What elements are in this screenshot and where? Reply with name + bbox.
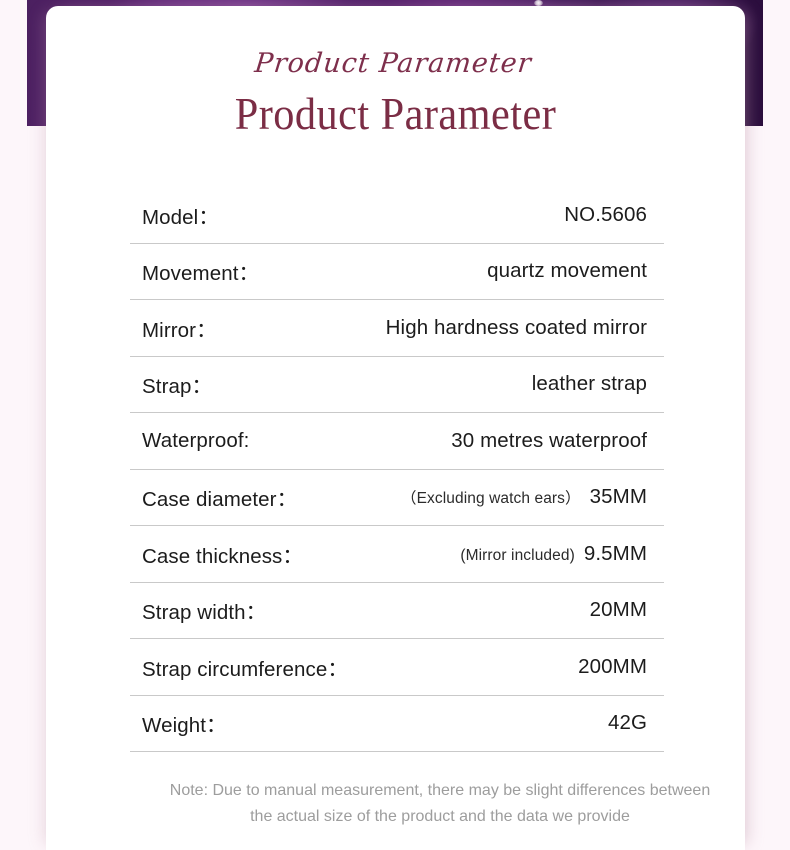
table-row: Movement： quartz movement xyxy=(130,244,664,301)
row-label: Strap width： xyxy=(130,595,266,625)
row-value: 42G xyxy=(608,711,647,735)
row-label: Strap circumference： xyxy=(130,652,348,682)
row-value: quartz movement xyxy=(487,259,647,283)
row-label: Case thickness： xyxy=(130,539,303,569)
row-value: 35MM xyxy=(590,485,647,509)
row-right: (Mirror included) 9.5MM xyxy=(460,542,664,566)
table-row: Mirror： High hardness coated mirror xyxy=(130,300,664,357)
row-value: NO.5606 xyxy=(564,203,647,227)
script-title: Product Parameter xyxy=(46,6,745,77)
table-row: Case diameter： （Excluding watch ears） 35… xyxy=(130,470,664,527)
row-right: （Excluding watch ears） 35MM xyxy=(401,485,664,509)
row-value: 30 metres waterproof xyxy=(451,429,647,453)
row-value: 200MM xyxy=(578,655,647,679)
row-label: Weight： xyxy=(130,708,227,738)
row-label: Case diameter： xyxy=(130,482,297,512)
table-row: Case thickness： (Mirror included) 9.5MM xyxy=(130,526,664,583)
product-parameter-card: Product Parameter Product Parameter Mode… xyxy=(46,6,745,850)
table-row: Model： NO.5606 xyxy=(130,187,664,244)
row-label: Mirror： xyxy=(130,313,217,343)
row-label: Model： xyxy=(130,200,219,230)
row-value: 9.5MM xyxy=(584,542,647,566)
page-title: Product Parameter xyxy=(74,77,717,137)
row-right: 42G xyxy=(608,711,664,735)
row-label: Strap： xyxy=(130,369,212,399)
table-row: Weight： 42G xyxy=(130,696,664,753)
row-right: 20MM xyxy=(590,598,664,622)
table-row: Strap： leather strap xyxy=(130,357,664,414)
row-right: quartz movement xyxy=(487,259,664,283)
row-value: leather strap xyxy=(532,372,647,396)
table-row: Strap circumference： 200MM xyxy=(130,639,664,696)
disclaimer-line-2: the actual size of the product and the d… xyxy=(130,804,745,830)
parameter-table: Model： NO.5606 Movement： quartz movement… xyxy=(130,187,664,752)
row-label: Movement： xyxy=(130,256,259,286)
row-value: High hardness coated mirror xyxy=(386,316,647,340)
row-note: （Excluding watch ears） xyxy=(401,486,581,508)
row-right: leather strap xyxy=(532,372,664,396)
row-right: High hardness coated mirror xyxy=(386,316,664,340)
row-right: NO.5606 xyxy=(564,203,664,227)
measurement-disclaimer: Note: Due to manual measurement, there m… xyxy=(130,778,745,830)
row-label: Waterproof: xyxy=(130,429,249,453)
row-value: 20MM xyxy=(590,598,647,622)
disclaimer-line-1: Note: Due to manual measurement, there m… xyxy=(130,778,745,804)
table-row: Strap width： 20MM xyxy=(130,583,664,640)
row-right: 200MM xyxy=(578,655,664,679)
row-note: (Mirror included) xyxy=(460,547,575,565)
row-right: 30 metres waterproof xyxy=(451,429,664,453)
table-row: Waterproof: 30 metres waterproof xyxy=(130,413,664,470)
